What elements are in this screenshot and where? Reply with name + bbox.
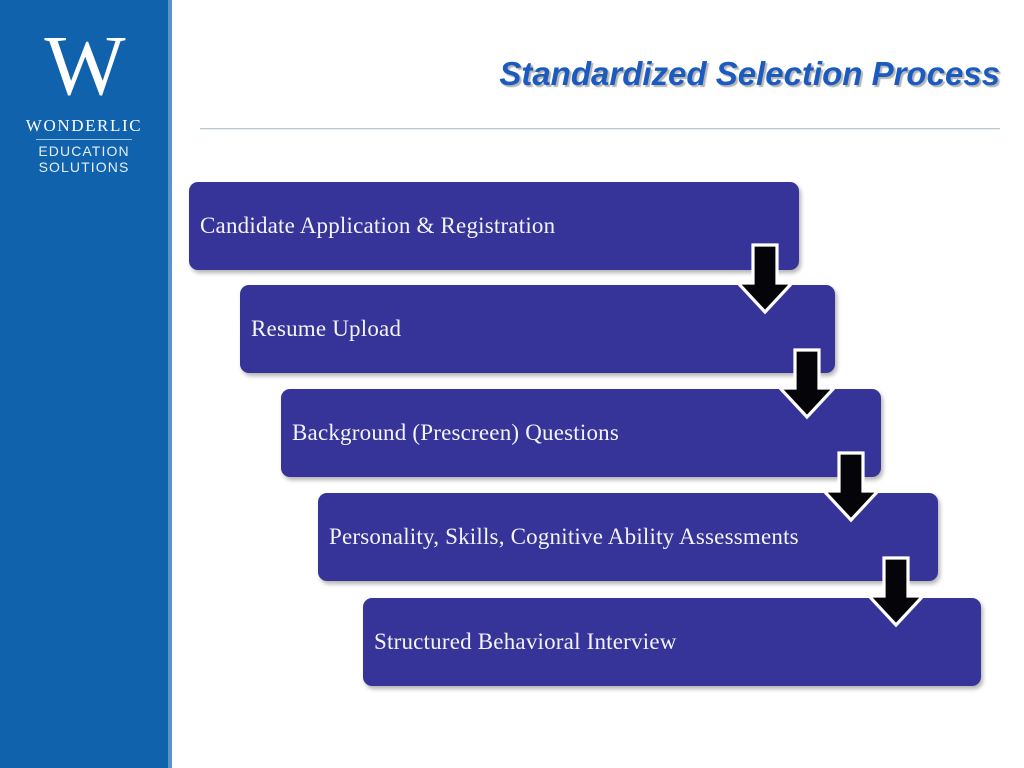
brand-sidebar: W WONDERLIC EDUCATION SOLUTIONS: [0, 0, 168, 768]
logo-divider-rule: [36, 139, 132, 140]
wonderlic-logo: W WONDERLIC EDUCATION SOLUTIONS: [0, 22, 168, 175]
process-step-label-3: Background (Prescreen) Questions: [281, 420, 619, 446]
down-arrow-icon: [735, 243, 795, 315]
process-step-label-2: Resume Upload: [240, 316, 401, 342]
down-arrow-icon: [777, 348, 837, 420]
slide-title: Standardized Selection Process: [200, 55, 1000, 93]
process-step-label-5: Structured Behavioral Interview: [363, 629, 677, 655]
logo-wordmark: WONDERLIC: [0, 116, 168, 136]
down-arrow-icon: [821, 451, 881, 523]
title-divider-line: [200, 128, 1000, 130]
logo-w-mark: W: [0, 22, 168, 108]
process-step-label-4: Personality, Skills, Cognitive Ability A…: [318, 524, 799, 550]
logo-subtitle-line-2: SOLUTIONS: [0, 159, 168, 175]
process-step-label-1: Candidate Application & Registration: [189, 213, 555, 239]
down-arrow-icon: [866, 556, 926, 628]
process-step-box-1[interactable]: Candidate Application & Registration: [189, 182, 799, 270]
slide-canvas: W WONDERLIC EDUCATION SOLUTIONS Standard…: [0, 0, 1024, 768]
logo-subtitle-line-1: EDUCATION: [0, 143, 168, 159]
sidebar-edge-strip: [168, 0, 172, 768]
